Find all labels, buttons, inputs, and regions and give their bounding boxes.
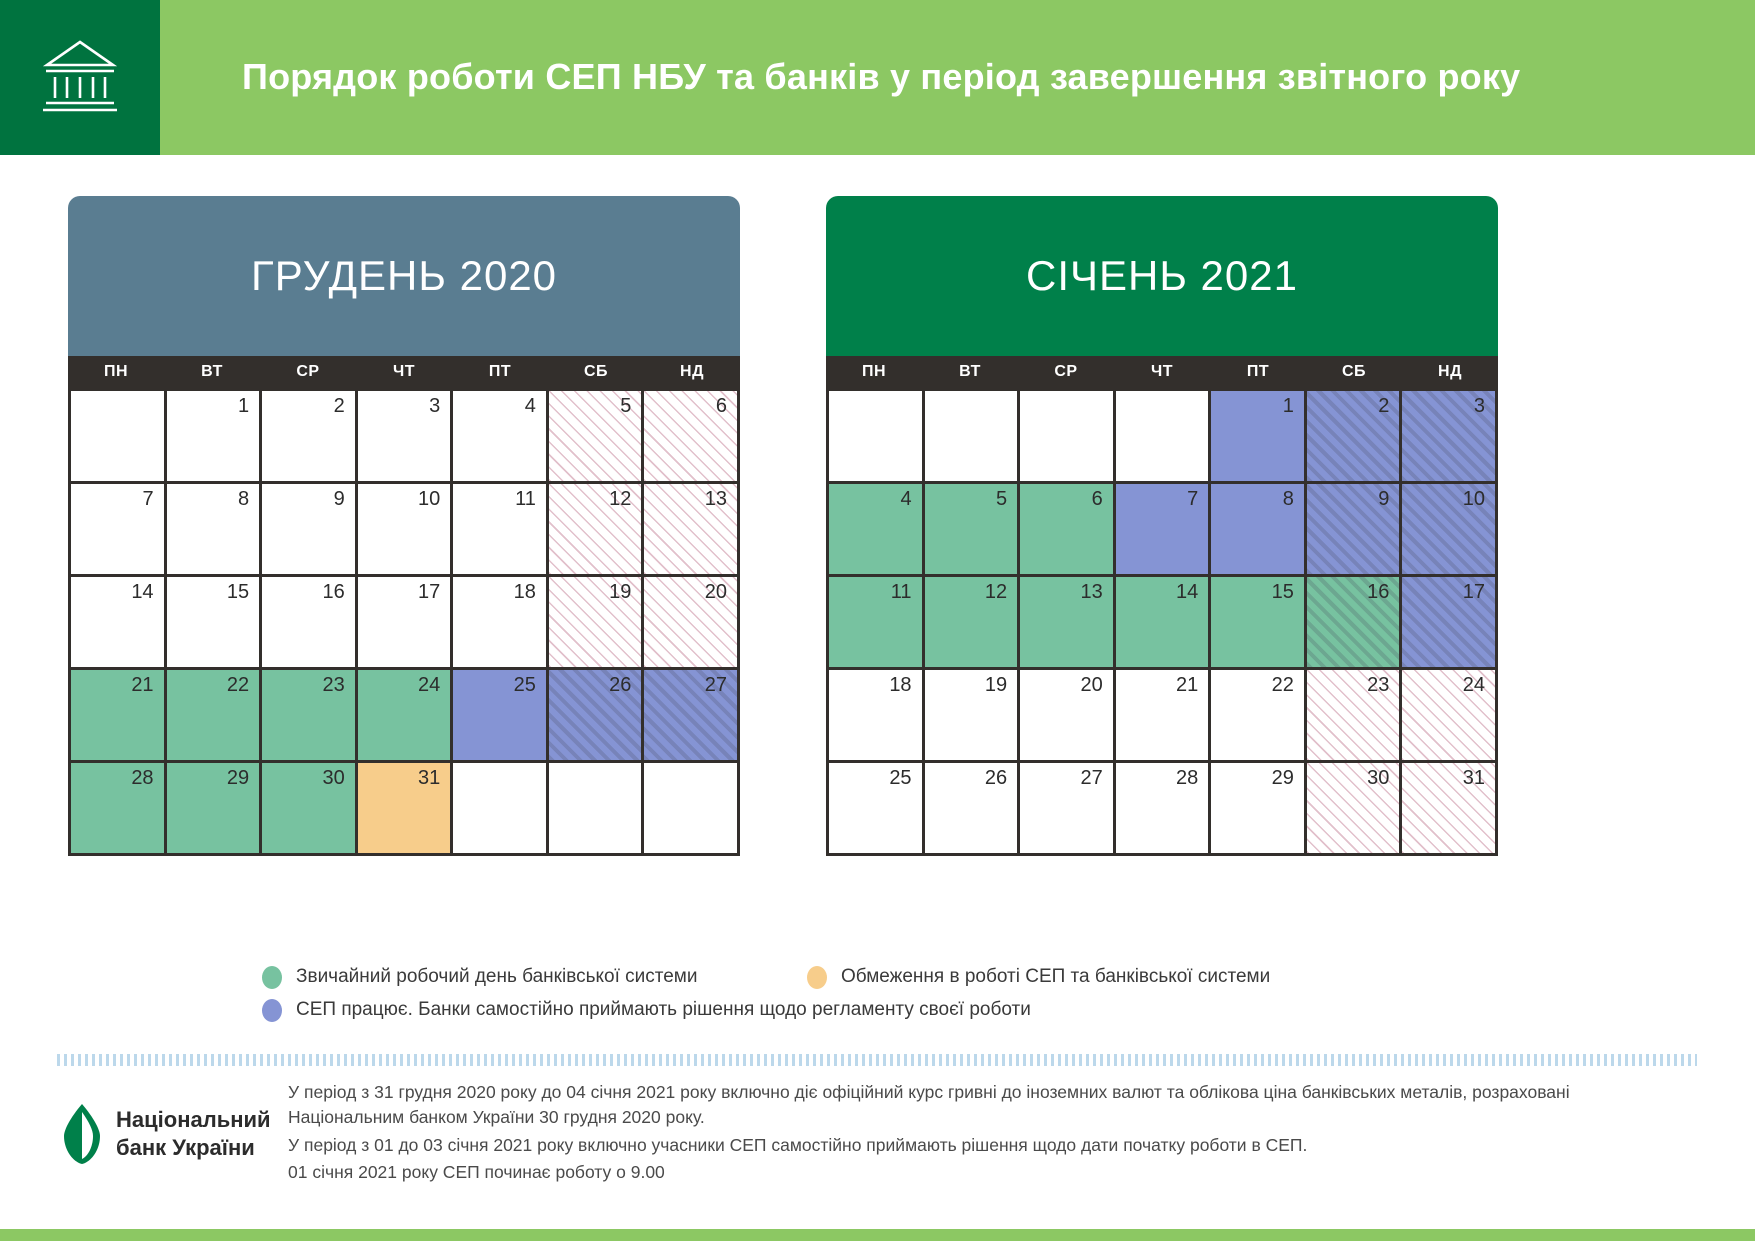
calendar-day-number: 13 bbox=[705, 489, 727, 509]
calendar-day-number: 7 bbox=[142, 489, 153, 509]
calendar-day-cell: 3 bbox=[358, 391, 454, 484]
calendar-day-number: 20 bbox=[1080, 675, 1102, 695]
calendar-empty-cell bbox=[549, 763, 645, 856]
calendar-day-cell: 13 bbox=[1020, 577, 1116, 670]
calendar-day-number: 17 bbox=[418, 582, 440, 602]
calendar-day-cell: 12 bbox=[925, 577, 1021, 670]
calendar-empty-cell bbox=[829, 391, 925, 484]
calendar-day-cell: 21 bbox=[1116, 670, 1212, 763]
calendar-day-number: 25 bbox=[514, 675, 536, 695]
page-footer: Національний банк України У період з 31 … bbox=[0, 1080, 1755, 1220]
calendar-day-number: 27 bbox=[705, 675, 727, 695]
calendar-day-cell: 27 bbox=[644, 670, 740, 763]
calendar-day-number: 20 bbox=[705, 582, 727, 602]
legend-item-normal-working-day: Звичайний робочий день банківської систе… bbox=[262, 966, 807, 989]
calendar-day-cell: 28 bbox=[1116, 763, 1212, 856]
calendar-day-number: 31 bbox=[418, 768, 440, 788]
calendar-day-number: 7 bbox=[1187, 489, 1198, 509]
calendar-day-number: 3 bbox=[1474, 396, 1485, 416]
calendar-day-cell: 14 bbox=[1116, 577, 1212, 670]
calendar-day-number: 29 bbox=[227, 768, 249, 788]
nbu-logo-text: Національний банк України bbox=[116, 1106, 271, 1162]
calendar-day-cell: 5 bbox=[925, 484, 1021, 577]
calendar-day-number: 21 bbox=[131, 675, 153, 695]
calendar-day-cell: 17 bbox=[1402, 577, 1498, 670]
calendar-day-cell: 9 bbox=[262, 484, 358, 577]
calendar-day-number: 11 bbox=[515, 489, 536, 509]
nbu-logo: Національний банк України bbox=[60, 1102, 271, 1166]
calendar-day-cell: 4 bbox=[453, 391, 549, 484]
calendar-day-cell: 22 bbox=[1211, 670, 1307, 763]
calendar-january-weekday-row: ПН ВТ СР ЧТ ПТ СБ НД bbox=[826, 356, 1498, 388]
nbu-logo-line-1: Національний bbox=[116, 1106, 271, 1134]
nbu-leaf-icon bbox=[60, 1102, 104, 1166]
calendar-day-number: 15 bbox=[1272, 582, 1294, 602]
weekday-wed: СР bbox=[260, 356, 356, 388]
calendar-day-number: 19 bbox=[985, 675, 1007, 695]
legend-label-green: Звичайний робочий день банківської систе… bbox=[296, 966, 697, 989]
calendar-day-number: 25 bbox=[889, 768, 911, 788]
legend-swatch-blue-icon bbox=[262, 999, 282, 1022]
calendar-day-cell: 12 bbox=[549, 484, 645, 577]
weekday-mon: ПН bbox=[826, 356, 922, 388]
calendar-day-number: 5 bbox=[620, 396, 631, 416]
footer-note-2: У період з 01 до 03 січня 2021 року вклю… bbox=[288, 1133, 1688, 1158]
weekday-sun: НД bbox=[644, 356, 740, 388]
calendar-empty-cell bbox=[71, 391, 167, 484]
calendar-day-cell: 20 bbox=[1020, 670, 1116, 763]
calendar-day-cell: 30 bbox=[262, 763, 358, 856]
calendar-january-title: СІЧЕНЬ 2021 bbox=[1026, 252, 1298, 300]
calendar-empty-cell bbox=[1116, 391, 1212, 484]
weekday-tue: ВТ bbox=[922, 356, 1018, 388]
calendar-day-cell: 30 bbox=[1307, 763, 1403, 856]
section-divider bbox=[57, 1054, 1697, 1066]
calendar-day-cell: 28 bbox=[71, 763, 167, 856]
legend-row-2: СЕП працює. Банки самостійно приймають р… bbox=[262, 999, 1502, 1022]
header-title-container: Порядок роботи СЕП НБУ та банків у періо… bbox=[160, 0, 1755, 155]
calendar-day-cell: 24 bbox=[1402, 670, 1498, 763]
calendar-day-cell: 24 bbox=[358, 670, 454, 763]
calendar-day-number: 27 bbox=[1080, 768, 1102, 788]
calendar-day-number: 18 bbox=[889, 675, 911, 695]
calendar-day-cell: 25 bbox=[829, 763, 925, 856]
page-title: Порядок роботи СЕП НБУ та банків у періо… bbox=[242, 54, 1520, 100]
calendar-day-cell: 3 bbox=[1402, 391, 1498, 484]
header-logo-container bbox=[0, 0, 160, 155]
weekday-thu: ЧТ bbox=[1114, 356, 1210, 388]
weekday-sun: НД bbox=[1402, 356, 1498, 388]
calendar-empty-cell bbox=[453, 763, 549, 856]
calendar-day-number: 24 bbox=[418, 675, 440, 695]
calendar-day-cell: 8 bbox=[167, 484, 263, 577]
calendar-day-cell: 2 bbox=[1307, 391, 1403, 484]
calendar-day-number: 24 bbox=[1463, 675, 1485, 695]
legend-label-orange: Обмеження в роботі СЕП та банківської си… bbox=[841, 966, 1270, 989]
calendar-day-number: 2 bbox=[334, 396, 345, 416]
calendar-day-cell: 9 bbox=[1307, 484, 1403, 577]
weekday-sat: СБ bbox=[548, 356, 644, 388]
calendar-december-title: ГРУДЕНЬ 2020 bbox=[251, 252, 557, 300]
legend-item-sep-working: СЕП працює. Банки самостійно приймають р… bbox=[262, 999, 1031, 1022]
calendar-day-number: 2 bbox=[1378, 396, 1389, 416]
footer-note-3: 01 січня 2021 року СЕП починає роботу о … bbox=[288, 1160, 1688, 1185]
calendar-day-number: 28 bbox=[1176, 768, 1198, 788]
calendar-day-cell: 5 bbox=[549, 391, 645, 484]
calendar-day-cell: 10 bbox=[1402, 484, 1498, 577]
calendar-day-cell: 13 bbox=[644, 484, 740, 577]
calendar-day-number: 1 bbox=[1283, 396, 1294, 416]
calendar-day-number: 30 bbox=[322, 768, 344, 788]
calendar-december-grid: 1234567891011121314151617181920212223242… bbox=[68, 388, 740, 856]
calendar-day-cell: 18 bbox=[829, 670, 925, 763]
nbu-logo-line-2: банк України bbox=[116, 1134, 271, 1162]
calendar-day-cell: 1 bbox=[167, 391, 263, 484]
calendar-day-number: 16 bbox=[1367, 582, 1389, 602]
calendar-day-cell: 15 bbox=[167, 577, 263, 670]
calendar-day-number: 14 bbox=[131, 582, 153, 602]
calendar-day-number: 30 bbox=[1367, 768, 1389, 788]
calendar-empty-cell bbox=[925, 391, 1021, 484]
weekday-mon: ПН bbox=[68, 356, 164, 388]
calendar-day-cell: 10 bbox=[358, 484, 454, 577]
legend-row-1: Звичайний робочий день банківської систе… bbox=[262, 966, 1502, 989]
calendar-day-cell: 6 bbox=[644, 391, 740, 484]
calendar-day-number: 9 bbox=[1378, 489, 1389, 509]
calendar-january: СІЧЕНЬ 2021 ПН ВТ СР ЧТ ПТ СБ НД 1234567… bbox=[826, 196, 1498, 856]
calendar-day-number: 28 bbox=[131, 768, 153, 788]
calendar-day-cell: 11 bbox=[829, 577, 925, 670]
calendar-december-weekday-row: ПН ВТ СР ЧТ ПТ СБ НД bbox=[68, 356, 740, 388]
calendar-day-cell: 31 bbox=[358, 763, 454, 856]
calendar-day-cell: 19 bbox=[925, 670, 1021, 763]
legend: Звичайний робочий день банківської систе… bbox=[262, 966, 1502, 1032]
calendar-day-cell: 26 bbox=[925, 763, 1021, 856]
calendar-day-cell: 22 bbox=[167, 670, 263, 763]
calendar-day-number: 10 bbox=[1463, 489, 1485, 509]
calendar-day-cell: 20 bbox=[644, 577, 740, 670]
calendar-day-number: 15 bbox=[227, 582, 249, 602]
weekday-fri: ПТ bbox=[1210, 356, 1306, 388]
weekday-fri: ПТ bbox=[452, 356, 548, 388]
footer-notes: У період з 31 грудня 2020 року до 04 січ… bbox=[288, 1080, 1688, 1188]
calendar-day-cell: 31 bbox=[1402, 763, 1498, 856]
calendar-december-header: ГРУДЕНЬ 2020 bbox=[68, 196, 740, 356]
calendar-day-cell: 16 bbox=[1307, 577, 1403, 670]
calendar-day-number: 14 bbox=[1176, 582, 1198, 602]
footer-note-1: У період з 31 грудня 2020 року до 04 січ… bbox=[288, 1080, 1688, 1131]
legend-item-restricted: Обмеження в роботі СЕП та банківської си… bbox=[807, 966, 1270, 989]
calendar-day-number: 4 bbox=[525, 396, 536, 416]
page-header: Порядок роботи СЕП НБУ та банків у періо… bbox=[0, 0, 1755, 155]
calendar-day-number: 8 bbox=[238, 489, 249, 509]
calendar-day-cell: 19 bbox=[549, 577, 645, 670]
calendar-day-number: 12 bbox=[985, 582, 1007, 602]
calendar-day-number: 4 bbox=[900, 489, 911, 509]
calendar-day-number: 11 bbox=[891, 582, 912, 602]
calendar-day-number: 5 bbox=[996, 489, 1007, 509]
calendar-january-grid: 1234567891011121314151617181920212223242… bbox=[826, 388, 1498, 856]
calendar-day-cell: 4 bbox=[829, 484, 925, 577]
calendar-day-cell: 17 bbox=[358, 577, 454, 670]
calendar-day-number: 8 bbox=[1283, 489, 1294, 509]
calendar-day-cell: 7 bbox=[1116, 484, 1212, 577]
calendar-day-number: 16 bbox=[322, 582, 344, 602]
calendar-day-number: 10 bbox=[418, 489, 440, 509]
calendar-day-number: 18 bbox=[514, 582, 536, 602]
weekday-wed: СР bbox=[1018, 356, 1114, 388]
calendar-day-cell: 15 bbox=[1211, 577, 1307, 670]
legend-label-blue: СЕП працює. Банки самостійно приймають р… bbox=[296, 999, 1031, 1022]
calendar-day-number: 29 bbox=[1272, 768, 1294, 788]
calendar-day-number: 13 bbox=[1080, 582, 1102, 602]
bottom-accent-bar bbox=[0, 1229, 1755, 1241]
weekday-sat: СБ bbox=[1306, 356, 1402, 388]
calendar-day-number: 6 bbox=[1092, 489, 1103, 509]
legend-swatch-green-icon bbox=[262, 966, 282, 989]
bank-building-icon bbox=[37, 32, 123, 123]
calendar-day-cell: 21 bbox=[71, 670, 167, 763]
calendar-day-cell: 29 bbox=[167, 763, 263, 856]
calendar-day-number: 9 bbox=[334, 489, 345, 509]
calendar-day-number: 22 bbox=[1272, 675, 1294, 695]
calendar-day-cell: 11 bbox=[453, 484, 549, 577]
calendar-day-number: 21 bbox=[1176, 675, 1198, 695]
calendar-day-number: 22 bbox=[227, 675, 249, 695]
calendar-december: ГРУДЕНЬ 2020 ПН ВТ СР ЧТ ПТ СБ НД 123456… bbox=[68, 196, 740, 856]
calendar-day-cell: 6 bbox=[1020, 484, 1116, 577]
calendar-day-number: 19 bbox=[609, 582, 631, 602]
calendar-day-number: 6 bbox=[716, 396, 727, 416]
weekday-tue: ВТ bbox=[164, 356, 260, 388]
calendar-empty-cell bbox=[644, 763, 740, 856]
calendar-day-cell: 1 bbox=[1211, 391, 1307, 484]
calendar-day-cell: 2 bbox=[262, 391, 358, 484]
calendar-day-number: 3 bbox=[429, 396, 440, 416]
calendar-day-number: 23 bbox=[1367, 675, 1389, 695]
calendar-day-cell: 7 bbox=[71, 484, 167, 577]
calendar-day-number: 31 bbox=[1463, 768, 1485, 788]
calendar-day-number: 26 bbox=[609, 675, 631, 695]
calendar-day-number: 23 bbox=[322, 675, 344, 695]
calendar-empty-cell bbox=[1020, 391, 1116, 484]
weekday-thu: ЧТ bbox=[356, 356, 452, 388]
calendar-day-cell: 18 bbox=[453, 577, 549, 670]
calendar-day-cell: 14 bbox=[71, 577, 167, 670]
calendar-day-cell: 27 bbox=[1020, 763, 1116, 856]
legend-swatch-orange-icon bbox=[807, 966, 827, 989]
calendar-day-number: 26 bbox=[985, 768, 1007, 788]
calendar-day-cell: 26 bbox=[549, 670, 645, 763]
calendar-day-cell: 29 bbox=[1211, 763, 1307, 856]
calendar-day-cell: 23 bbox=[262, 670, 358, 763]
calendar-day-number: 1 bbox=[238, 396, 249, 416]
calendar-day-cell: 25 bbox=[453, 670, 549, 763]
calendar-day-number: 17 bbox=[1463, 582, 1485, 602]
calendar-day-number: 12 bbox=[609, 489, 631, 509]
calendar-january-header: СІЧЕНЬ 2021 bbox=[826, 196, 1498, 356]
calendar-day-cell: 8 bbox=[1211, 484, 1307, 577]
calendar-day-cell: 23 bbox=[1307, 670, 1403, 763]
calendar-day-cell: 16 bbox=[262, 577, 358, 670]
